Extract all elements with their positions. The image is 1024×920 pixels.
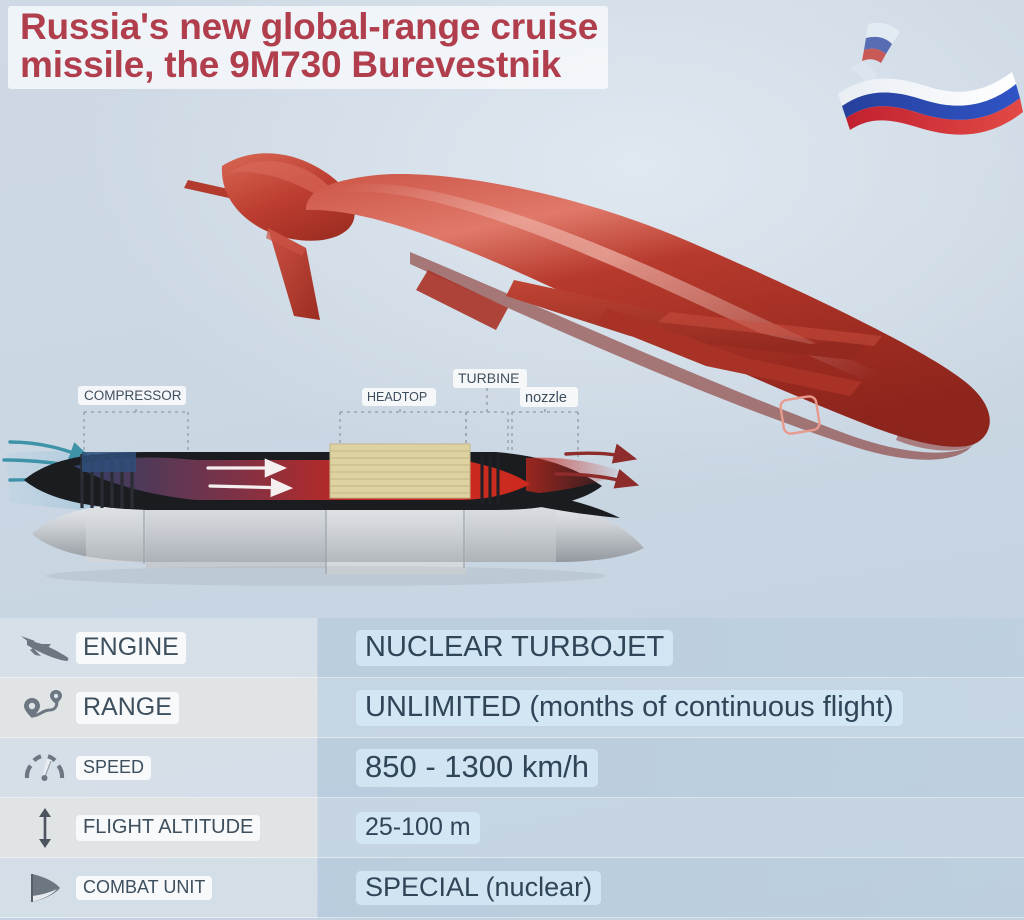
route-pins-icon xyxy=(14,685,76,731)
page-title-line-2: missile, the 9M730 Burevestnik xyxy=(20,46,598,84)
callout-headtop: HEADTOP xyxy=(362,388,436,406)
warhead-icon xyxy=(14,865,76,911)
table-row: SPEED 850 - 1300 km/h xyxy=(0,738,1024,798)
spec-value-cell: UNLIMITED (months of continuous flight) xyxy=(318,678,1024,738)
spec-label: ENGINE xyxy=(76,632,186,663)
callout-headtop-label: HEADTOP xyxy=(367,390,427,404)
specifications-table: ENGINE NUCLEAR TURBOJET xyxy=(0,618,1024,920)
engine-cutaway-diagram: COMPRESSOR HEADTOP TURBINE nozzle xyxy=(0,362,660,620)
spec-label-cell: ENGINE xyxy=(0,618,318,678)
page-title-line-1: Russia's new global-range cruise xyxy=(20,8,598,46)
spec-value-cell: 25-100 m xyxy=(318,798,1024,858)
callout-turbine-label: TURBINE xyxy=(458,370,519,386)
spec-value-cell: 850 - 1300 km/h xyxy=(318,738,1024,798)
callout-nozzle-label: nozzle xyxy=(525,390,567,406)
spec-value-cell: NUCLEAR TURBOJET xyxy=(318,618,1024,678)
spec-label-cell: SPEED xyxy=(0,738,318,798)
spec-label: SPEED xyxy=(76,756,151,780)
spec-label: RANGE xyxy=(76,692,179,723)
table-row: FLIGHT ALTITUDE 25-100 m xyxy=(0,798,1024,858)
table-row: COMBAT UNIT SPECIAL (nuclear) xyxy=(0,858,1024,918)
spec-value: UNLIMITED (months of continuous flight) xyxy=(356,690,903,726)
speedometer-icon xyxy=(14,745,76,791)
russian-flag-ribbon-icon xyxy=(826,2,1024,148)
altitude-arrow-icon xyxy=(14,805,76,851)
table-row: RANGE UNLIMITED (months of continuous fl… xyxy=(0,678,1024,738)
spec-value: 850 - 1300 km/h xyxy=(356,749,598,788)
spec-value: 25-100 m xyxy=(356,812,480,844)
callout-turbine: TURBINE xyxy=(453,369,527,388)
missile-icon xyxy=(14,625,76,671)
spec-label-cell: RANGE xyxy=(0,678,318,738)
spec-value: SPECIAL (nuclear) xyxy=(356,871,601,905)
spec-label: FLIGHT ALTITUDE xyxy=(76,815,260,841)
table-row: ENGINE NUCLEAR TURBOJET xyxy=(0,618,1024,678)
spec-label-cell: COMBAT UNIT xyxy=(0,858,318,918)
spec-label-cell: FLIGHT ALTITUDE xyxy=(0,798,318,858)
spec-value-cell: SPECIAL (nuclear) xyxy=(318,858,1024,918)
spec-value: NUCLEAR TURBOJET xyxy=(356,630,673,666)
callout-compressor: COMPRESSOR xyxy=(78,386,186,405)
callout-nozzle: nozzle xyxy=(520,387,578,407)
page-title: Russia's new global-range cruise missile… xyxy=(8,6,608,89)
callout-compressor-label: COMPRESSOR xyxy=(84,388,182,403)
spec-label: COMBAT UNIT xyxy=(76,876,212,900)
infographic-poster: Russia's new global-range cruise missile… xyxy=(0,0,1024,920)
